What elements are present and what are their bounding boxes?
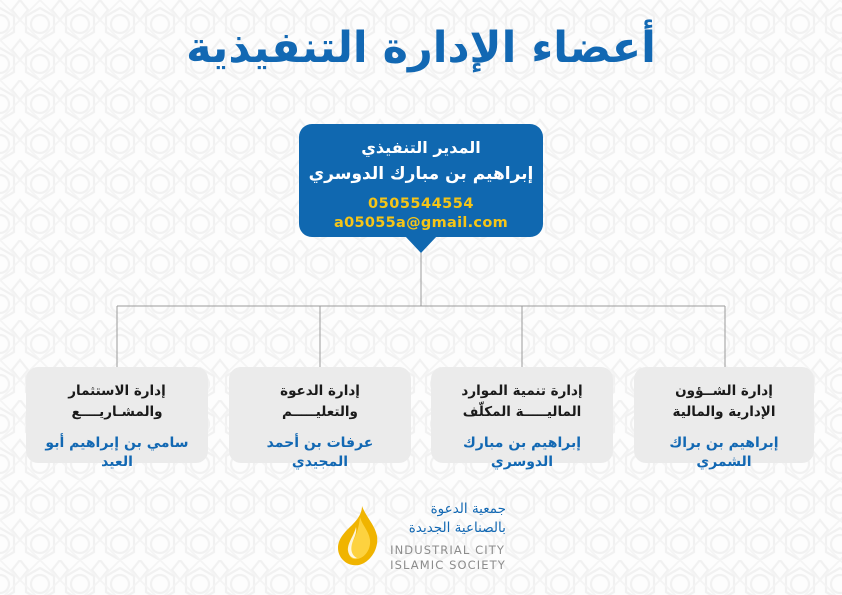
page-title: أعضاء الإدارة التنفيذية — [0, 22, 842, 76]
org-chart-page: أعضاء الإدارة التنفيذية المدير التنفيذي … — [0, 0, 842, 595]
department-row: إدارة الاستثمار والمشـاريــــع سامي بن إ… — [0, 367, 842, 463]
ceo-email[interactable]: a05055a@gmail.com — [299, 215, 543, 231]
department-person-name: سامي بن إبراهيم أبو العيد — [34, 434, 200, 473]
logo-arabic-line1: جمعية الدعوة — [390, 500, 506, 520]
organization-logo: جمعية الدعوة بالصناعية الجديدة INDUSTRIA… — [0, 496, 842, 576]
flame-icon — [336, 505, 380, 567]
department-title-line1: إدارة تنمية الموارد — [439, 381, 605, 402]
department-person-name: عرفات بن أحمد المجيدي — [237, 434, 403, 473]
logo-english-line2: ISLAMIC SOCIETY — [390, 558, 506, 573]
department-title-line2: الإدارية والمالية — [642, 402, 806, 423]
department-title-line2: والتعليـــــم — [237, 402, 403, 423]
logo-arabic-line2: بالصناعية الجديدة — [390, 519, 506, 539]
department-node-financial-resources[interactable]: إدارة تنمية الموارد الماليـــــة المكلّف… — [431, 367, 613, 463]
department-title-line1: إدارة الدعوة — [237, 381, 403, 402]
department-title-line2: والمشـاريــــع — [34, 402, 200, 423]
department-person-name: إبراهيم بن مبارك الدوسري — [439, 434, 605, 473]
department-title-line1: إدارة الاستثمار — [34, 381, 200, 402]
ceo-node-tail — [405, 236, 437, 253]
ceo-role-label: المدير التنفيذي — [299, 136, 543, 160]
department-node-dawah-education[interactable]: إدارة الدعوة والتعليـــــم عرفات بن أحمد… — [229, 367, 411, 463]
ceo-node[interactable]: المدير التنفيذي إبراهيم بن مبارك الدوسري… — [299, 124, 543, 237]
ceo-phone[interactable]: 0505544554 — [299, 196, 543, 212]
logo-text-block: جمعية الدعوة بالصناعية الجديدة INDUSTRIA… — [390, 500, 506, 573]
department-node-investment[interactable]: إدارة الاستثمار والمشـاريــــع سامي بن إ… — [26, 367, 208, 463]
department-title-line2: الماليـــــة المكلّف — [439, 402, 605, 423]
department-person-name: إبراهيم بن براك الشمري — [642, 434, 806, 473]
logo-english-block: INDUSTRIAL CITY ISLAMIC SOCIETY — [390, 543, 506, 573]
logo-english-line1: INDUSTRIAL CITY — [390, 543, 506, 558]
department-node-admin-finance[interactable]: إدارة الشــؤون الإدارية والمالية إبراهيم… — [634, 367, 814, 463]
department-title-line1: إدارة الشــؤون — [642, 381, 806, 402]
ceo-name-label: إبراهيم بن مبارك الدوسري — [299, 161, 543, 187]
